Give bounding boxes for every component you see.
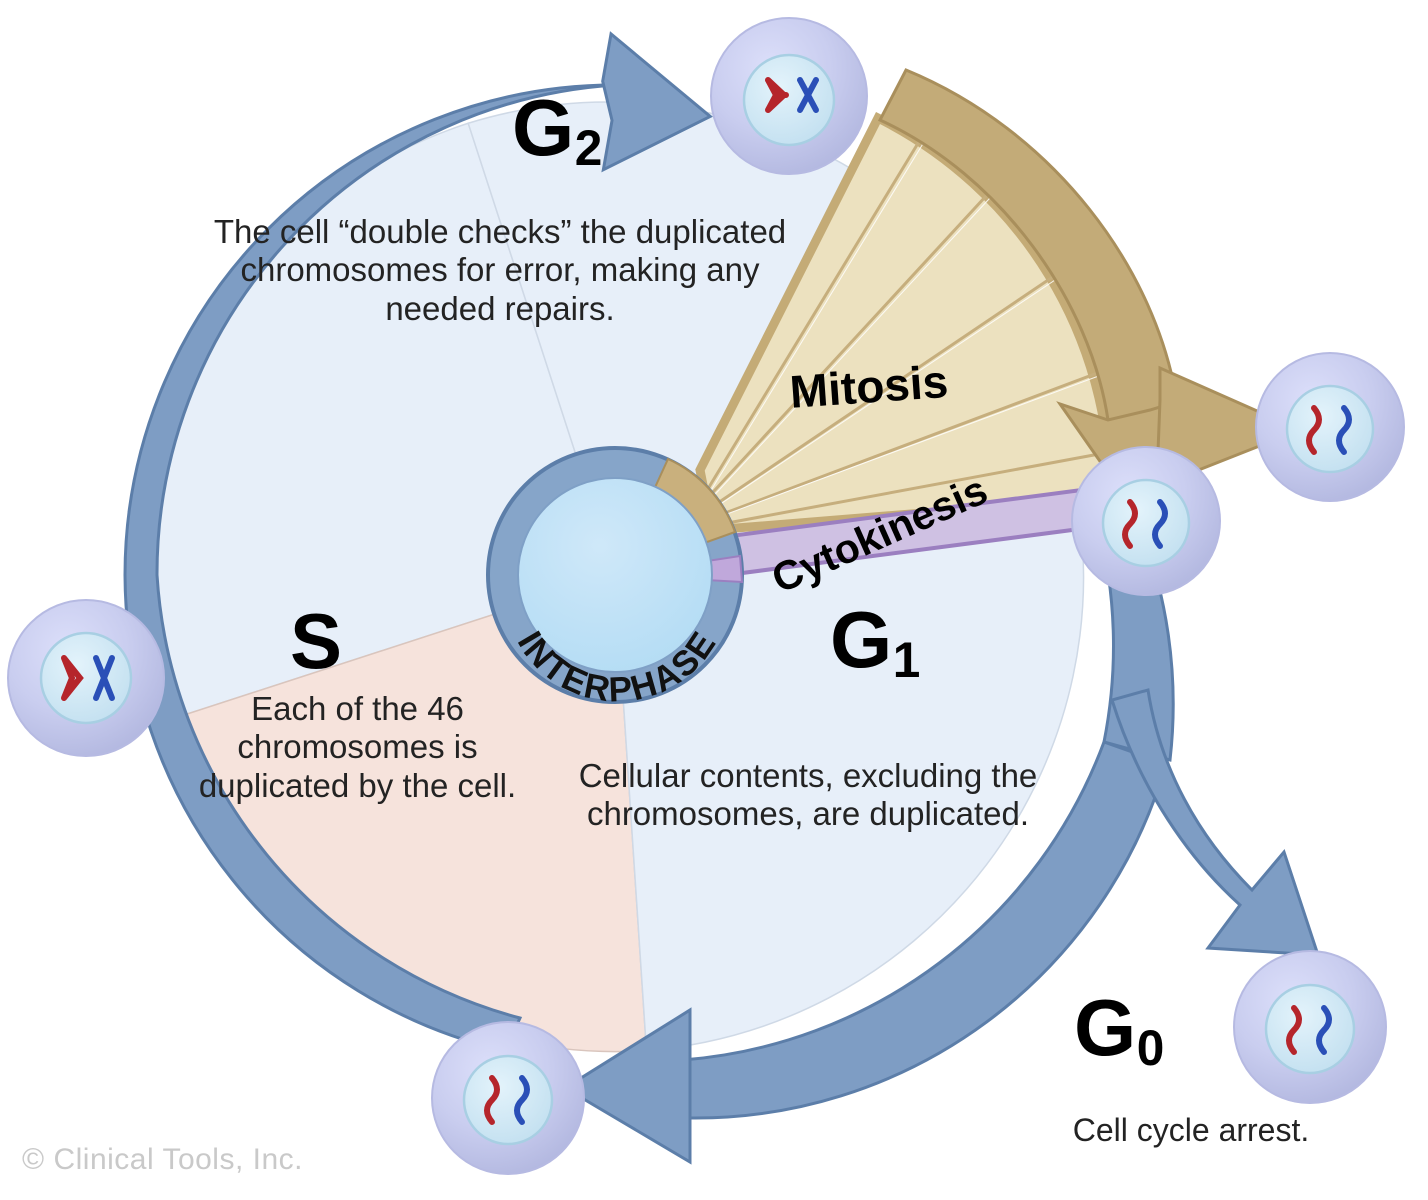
phase-description-s: Each of the 46 chromosomes is duplicated… bbox=[185, 690, 530, 805]
copyright-notice: © Clinical Tools, Inc. bbox=[22, 1143, 303, 1177]
phase-label-g2-subscript: 2 bbox=[575, 120, 603, 176]
cell-cycle-diagram: INTERPHASE bbox=[0, 0, 1428, 1200]
cell-g2-top bbox=[711, 18, 867, 174]
phase-label-g1-subscript: 1 bbox=[893, 632, 921, 688]
copyright-icon: © bbox=[22, 1143, 45, 1176]
diagram-vector-layer: INTERPHASE bbox=[0, 0, 1428, 1200]
cell-cytokinesis-daughter bbox=[1072, 447, 1220, 595]
phase-label-g2-letter: G bbox=[512, 83, 574, 172]
cell-g1-entry bbox=[432, 1022, 584, 1174]
phase-description-g1: Cellular contents, excluding the chromos… bbox=[548, 757, 1068, 834]
phase-label-g2: G2 bbox=[512, 88, 602, 168]
phase-label-g1-letter: G bbox=[830, 595, 892, 684]
phase-label-g1: G1 bbox=[830, 600, 920, 680]
phase-label-s-letter: S bbox=[290, 597, 342, 685]
phase-label-s: S bbox=[290, 602, 342, 680]
cell-s-phase bbox=[8, 600, 164, 756]
copyright-text: Clinical Tools, Inc. bbox=[53, 1143, 303, 1176]
cell-mitosis-daughter-right bbox=[1256, 353, 1404, 501]
phase-description-g0: Cell cycle arrest. bbox=[1026, 1112, 1356, 1149]
phase-label-g0: G0 bbox=[1074, 988, 1164, 1068]
phase-label-g0-letter: G bbox=[1074, 983, 1136, 1072]
cell-g0-arrest bbox=[1234, 951, 1386, 1103]
phase-description-g2: The cell “double checks” the duplicated … bbox=[200, 213, 800, 328]
phase-label-g0-subscript: 0 bbox=[1137, 1020, 1165, 1076]
mitosis-label: Mitosis bbox=[788, 354, 950, 419]
